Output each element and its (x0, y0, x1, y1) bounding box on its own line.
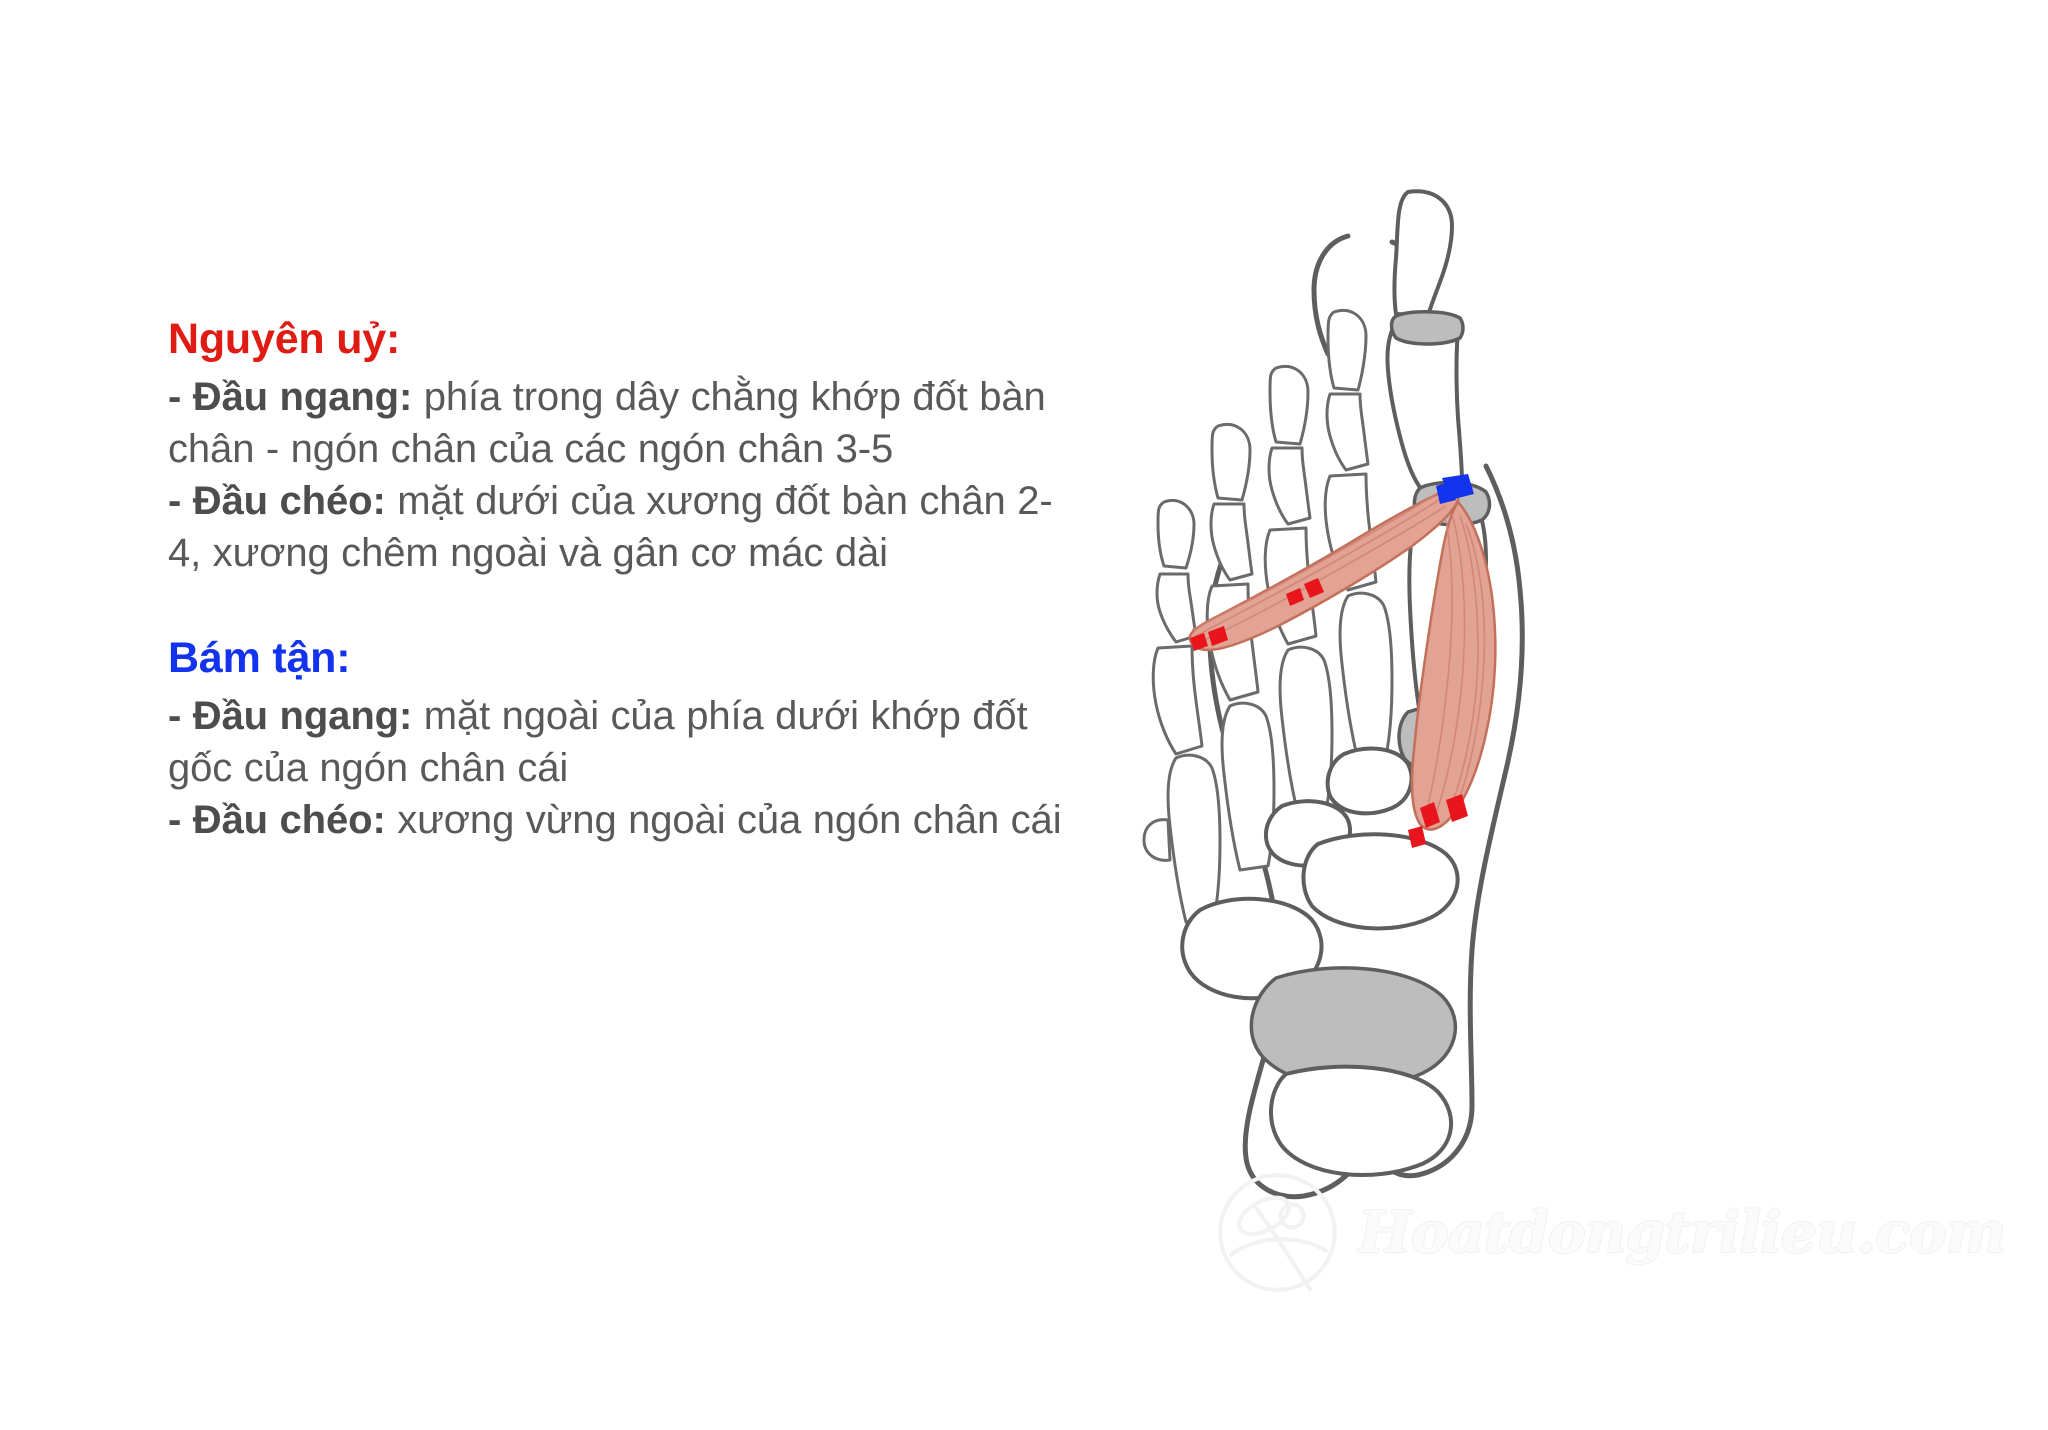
insertion-item-1: - Đầu chéo: xương vừng ngoài của ngón ch… (168, 794, 1068, 846)
metatarsal-2 (1340, 593, 1392, 760)
slide-root: Nguyên uỷ: - Đầu ngang: phía trong dây c… (0, 0, 2048, 1430)
origin-item-1-label: - Đầu chéo: (168, 479, 386, 523)
toe-5-phalanges (1153, 500, 1202, 754)
hallux-distal-phalanx (1395, 191, 1453, 316)
insertion-item-1-text: xương vừng ngoài của ngón chân cái (386, 798, 1062, 842)
annotation-text-panel: Nguyên uỷ: - Đầu ngang: phía trong dây c… (168, 312, 1068, 846)
metatarsal-3 (1280, 647, 1332, 814)
origin-item-0-label: - Đầu ngang: (168, 375, 412, 419)
metatarsal-5 (1144, 755, 1220, 922)
insertion-item-0-label: - Đầu ngang: (168, 694, 412, 738)
section-spacer (168, 579, 1068, 631)
origin-item-0: - Đầu ngang: phía trong dây chằng khớp đ… (168, 371, 1068, 475)
section-insertion: Bám tận: - Đầu ngang: mặt ngoài của phía… (168, 631, 1068, 846)
insertion-item-0: - Đầu ngang: mặt ngoài của phía dưới khớ… (168, 690, 1068, 794)
section-insertion-heading: Bám tận: (168, 631, 1068, 686)
insertion-item-1-label: - Đầu chéo: (168, 798, 386, 842)
talus-calcaneus (1251, 968, 1455, 1175)
foot-anatomy-illustration: .bone{fill:#ffffff;stroke:#5e5e5e;stroke… (1090, 130, 1610, 1210)
section-origin: Nguyên uỷ: - Đầu ngang: phía trong dây c… (168, 312, 1068, 579)
section-origin-heading: Nguyên uỷ: (168, 312, 1068, 367)
origin-item-1: - Đầu chéo: mặt dưới của xương đốt bàn c… (168, 475, 1068, 579)
navicular (1303, 834, 1457, 928)
hallux-proximal-phalanx (1387, 312, 1463, 490)
toe-4-phalanges (1207, 424, 1258, 700)
